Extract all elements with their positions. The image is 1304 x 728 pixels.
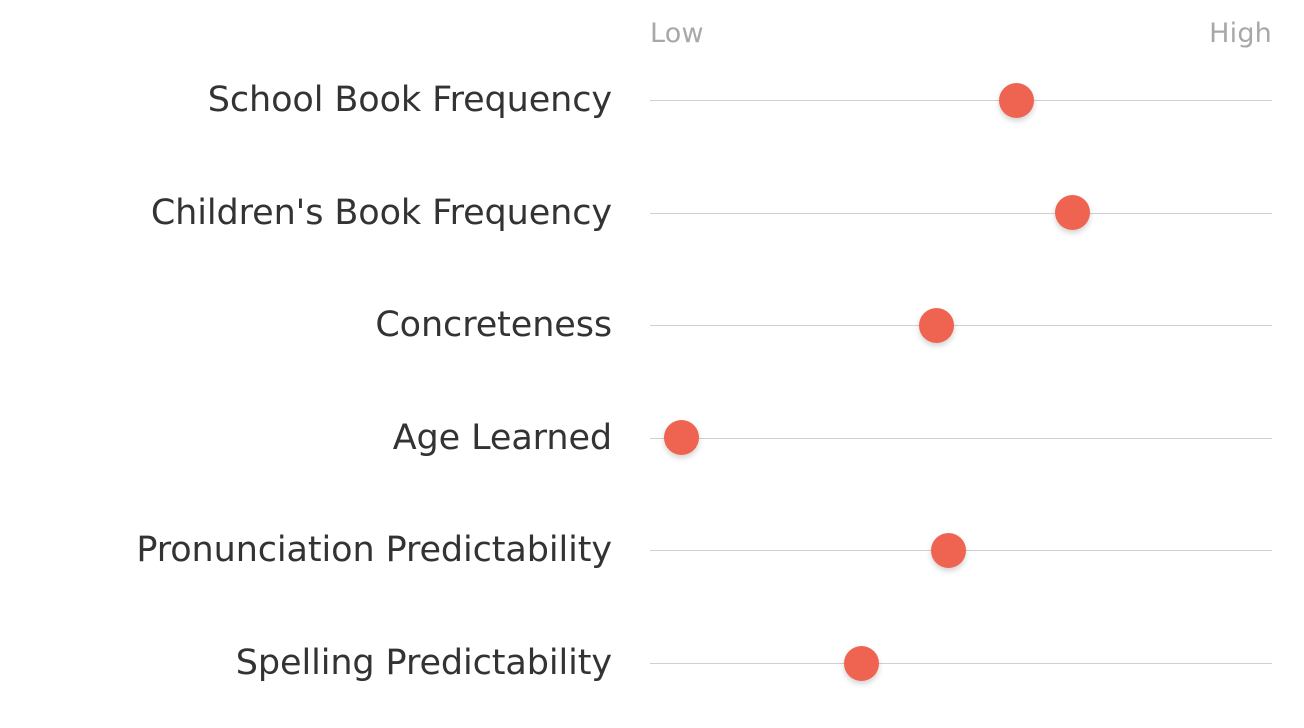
row-label: Spelling Predictability bbox=[236, 637, 612, 689]
row-label: Children's Book Frequency bbox=[151, 187, 612, 239]
data-point-marker[interactable] bbox=[1055, 195, 1090, 230]
axis-label-low: Low bbox=[650, 14, 704, 54]
row-gridline bbox=[650, 213, 1272, 214]
row-gridline bbox=[650, 663, 1272, 664]
data-point-marker[interactable] bbox=[999, 83, 1034, 118]
data-point-marker[interactable] bbox=[664, 420, 699, 455]
row-label: School Book Frequency bbox=[208, 74, 612, 126]
row-gridline bbox=[650, 325, 1272, 326]
row-gridline bbox=[650, 438, 1272, 439]
row-gridline bbox=[650, 100, 1272, 101]
row-label: Pronunciation Predictability bbox=[136, 524, 612, 576]
scale-axis-header: Low High bbox=[650, 14, 1272, 56]
row-label: Concreteness bbox=[375, 299, 612, 351]
data-point-marker[interactable] bbox=[919, 308, 954, 343]
row-label: Age Learned bbox=[393, 412, 612, 464]
axis-label-high: High bbox=[1209, 14, 1272, 54]
dot-plot-chart: Low High School Book FrequencyChildren's… bbox=[0, 0, 1304, 728]
data-point-marker[interactable] bbox=[844, 646, 879, 681]
data-point-marker[interactable] bbox=[931, 533, 966, 568]
